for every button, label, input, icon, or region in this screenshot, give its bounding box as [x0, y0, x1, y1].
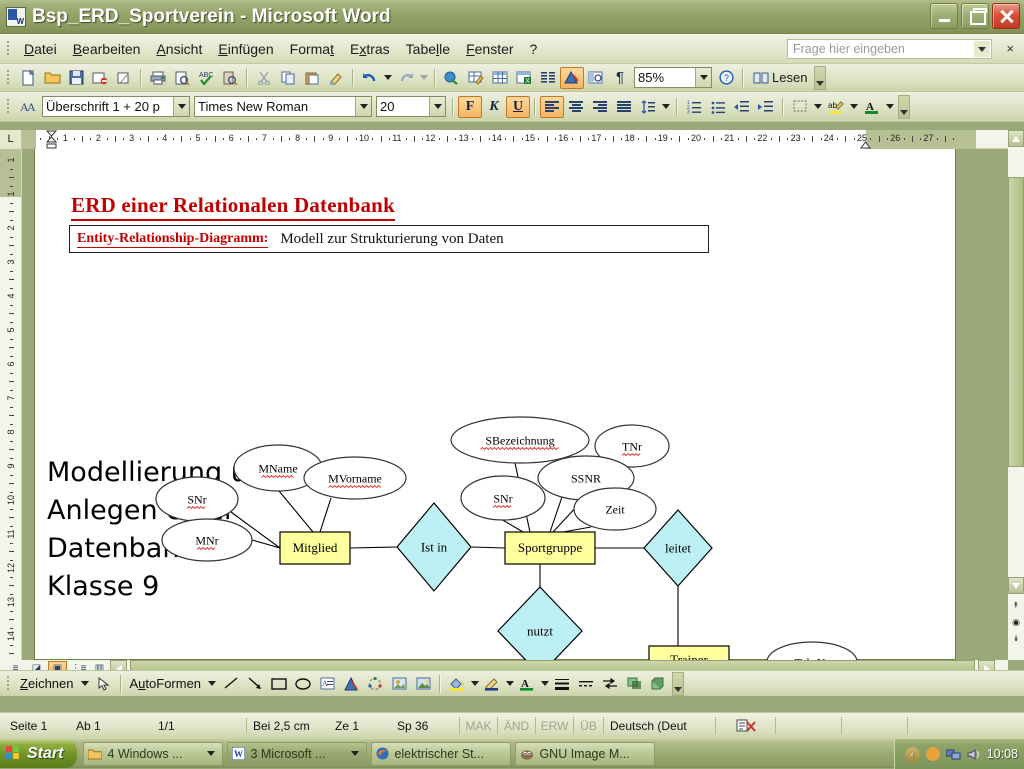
ruler-tick — [381, 136, 382, 142]
ruler-tick — [522, 138, 523, 140]
attribute-label: SNr — [493, 492, 512, 506]
diagram-shapes: SNrMNrMNameMVornameSBezeichnungTNrSSNRSN… — [156, 417, 857, 660]
taskbar-item-label: 3 Microsoft ... — [250, 747, 325, 761]
firefox-icon — [376, 747, 389, 760]
document-canvas[interactable]: ERD einer Relationalen Datenbank Entity-… — [22, 149, 975, 660]
ruler-tick — [904, 138, 905, 140]
taskbar-item-label: GNU Image M... — [539, 747, 629, 761]
new-document-icon[interactable] — [16, 67, 40, 89]
tab-stop-selector[interactable]: L — [0, 130, 22, 149]
ruler-label: 6 — [229, 133, 234, 143]
align-left-icon[interactable] — [540, 96, 564, 118]
scroll-up-button[interactable] — [1008, 130, 1024, 147]
ruler-tick — [9, 279, 14, 280]
text-box-icon[interactable]: A — [315, 673, 339, 695]
ruler-tick — [953, 138, 954, 140]
toolbar-separator — [676, 98, 678, 116]
clip-art-icon[interactable] — [387, 673, 411, 695]
menu-datei[interactable]: Datei — [16, 38, 65, 60]
attribute-tel-nr[interactable]: Tel.-Nr — [767, 642, 857, 660]
diagram-edge — [501, 519, 523, 532]
close-button[interactable] — [992, 3, 1020, 29]
font-size-combobox[interactable]: 20 — [376, 96, 446, 117]
zoom-combobox[interactable]: 85% — [634, 67, 712, 88]
ruler-tick — [10, 407, 13, 408]
ruler-label: 10 — [359, 133, 369, 143]
line-spacing-icon[interactable] — [636, 96, 660, 118]
restore-button[interactable] — [961, 3, 989, 29]
menu-tabelle[interactable]: Tabelle — [398, 38, 458, 60]
ruler-tick — [10, 237, 13, 238]
ruler-tick — [480, 136, 481, 142]
wordart-icon[interactable] — [339, 673, 363, 695]
attribute-snr-mitglied[interactable]: SNr — [156, 477, 238, 521]
format-painter-icon[interactable] — [324, 67, 348, 89]
ruler-tick — [920, 138, 921, 140]
status-line: Ze 1 — [331, 719, 393, 733]
vertical-scrollbar[interactable]: ⯭ ◉ ⯯ — [1008, 130, 1024, 660]
ruler-tick — [10, 169, 13, 170]
attribute-label: SSNR — [571, 472, 601, 486]
ruler-tick — [489, 138, 490, 140]
svg-text:X: X — [525, 78, 530, 85]
ruler-tick — [572, 138, 573, 140]
oval-icon[interactable] — [291, 673, 315, 695]
status-spare-1 — [775, 717, 841, 734]
ruler-tick — [206, 138, 207, 140]
attribute-zeit[interactable]: Zeit — [574, 488, 656, 530]
diagram-edge — [320, 498, 331, 532]
insert-table-icon[interactable] — [488, 67, 512, 89]
relationship-label: leitet — [665, 541, 691, 556]
indent-marker[interactable] — [46, 130, 57, 149]
status-spare-3 — [907, 717, 973, 734]
ruler-label: 24 — [824, 133, 834, 143]
ruler-tick — [240, 138, 241, 140]
ruler-tick — [9, 415, 14, 416]
ruler-tick — [256, 138, 257, 140]
insert-hyperlink-icon[interactable] — [440, 67, 464, 89]
line-icon[interactable] — [219, 673, 243, 695]
toolbar-separator — [452, 98, 454, 116]
ruler-label: 4 — [162, 133, 167, 143]
chevron-down-icon[interactable] — [429, 97, 445, 116]
toolbar-options-button[interactable] — [672, 672, 684, 696]
chevron-down-icon[interactable] — [974, 41, 990, 57]
ruler-tick — [472, 138, 473, 140]
underline-button[interactable]: U — [506, 96, 530, 118]
tables-and-borders-icon[interactable] — [464, 67, 488, 89]
arrow-style-icon[interactable] — [598, 673, 622, 695]
ruler-label: 18 — [625, 133, 635, 143]
ruler-tick — [10, 645, 13, 646]
relationship-ist-in[interactable]: Ist in — [397, 503, 471, 591]
menu-fenster[interactable]: Fenster — [458, 38, 521, 60]
ruler-tick — [588, 138, 589, 140]
status-ovr[interactable]: ÜB — [573, 717, 603, 734]
open-folder-icon[interactable] — [40, 67, 64, 89]
toolbar-separator — [246, 69, 248, 87]
menu-einfuegen[interactable]: Einfügen — [210, 38, 281, 60]
align-center-icon[interactable] — [564, 96, 588, 118]
clock[interactable]: 10:08 — [987, 747, 1018, 761]
status-page: Seite 1 — [0, 719, 72, 733]
ruler-tick — [90, 138, 91, 140]
ask-placeholder: Frage hier eingeben — [788, 42, 905, 56]
ruler-tick — [372, 138, 373, 140]
drawing-toolbar: Zeichnen AutoFormen A A — [0, 670, 1024, 696]
entity-trainer[interactable]: Trainer — [649, 646, 729, 660]
ruler-tick — [837, 138, 838, 140]
ruler-tick — [9, 347, 14, 348]
attribute-sbezeichnung[interactable]: SBezeichnung — [451, 417, 589, 463]
ruler-label: 14 — [492, 133, 502, 143]
ruler-tick — [82, 136, 83, 142]
menu-bearbeiten[interactable]: Bearbeiten — [65, 38, 149, 60]
word-icon: W — [232, 747, 245, 760]
ruler-tick — [821, 138, 822, 140]
font-color-dropdown-icon[interactable] — [884, 96, 896, 118]
picture-icon[interactable] — [411, 673, 435, 695]
ruler-tick — [879, 136, 880, 142]
ruler-label: 22 — [757, 133, 767, 143]
reading-layout-label: Lesen — [772, 70, 807, 85]
ruler-label: 26 — [890, 133, 900, 143]
ruler-tick — [406, 138, 407, 140]
ruler-tick — [389, 138, 390, 140]
status-section: Ab 1 — [72, 719, 154, 733]
ruler-tick — [9, 313, 14, 314]
document-map-icon[interactable] — [584, 67, 608, 89]
highlight-icon[interactable]: ab — [824, 96, 848, 118]
ruler-label: 1 — [63, 133, 68, 143]
print-icon[interactable] — [146, 67, 170, 89]
svg-text:ABC: ABC — [199, 72, 213, 79]
toolbar-separator — [534, 98, 536, 116]
status-language[interactable]: Deutsch (Deut — [603, 717, 715, 734]
menu-gripper[interactable] — [4, 39, 13, 59]
ruler-tick — [190, 138, 191, 140]
ruler-tick — [771, 138, 772, 140]
taskbar-item-word-group[interactable]: W 3 Microsoft ... — [227, 742, 367, 766]
attribute-label: SBezeichnung — [485, 434, 554, 448]
permission-icon[interactable] — [112, 67, 136, 89]
relationship-label: Ist in — [421, 540, 448, 555]
copy-icon[interactable] — [276, 67, 300, 89]
ruler-label: 3 — [129, 133, 134, 143]
ruler-tick — [854, 138, 855, 140]
reading-layout-button[interactable]: Lesen — [748, 70, 812, 85]
document-page[interactable]: ERD einer Relationalen Datenbank Entity-… — [34, 149, 956, 660]
ruler-label: 16 — [558, 133, 568, 143]
style-combobox[interactable]: Überschrift 1 + 20 p — [42, 96, 190, 117]
toolbar-separator — [742, 69, 744, 87]
italic-label: K — [489, 99, 498, 115]
ruler-label: 19 — [658, 133, 668, 143]
undo-dropdown-icon[interactable] — [382, 67, 394, 89]
svg-text:W: W — [234, 749, 243, 759]
ruler-tick — [107, 138, 108, 140]
font-combobox[interactable]: Times New Roman — [194, 96, 372, 117]
diagram-edge — [550, 497, 562, 532]
ruler-label: 12 — [425, 133, 435, 143]
ruler-tick — [513, 136, 514, 142]
diagram-edge — [471, 547, 505, 548]
diagram-edge — [350, 547, 397, 548]
ruler-label: 7 — [262, 133, 267, 143]
attribute-label: Zeit — [605, 503, 625, 517]
font-size-value: 20 — [377, 99, 394, 114]
standard-toolbar: ABC — [0, 64, 1024, 92]
save-disk-icon[interactable] — [64, 67, 88, 89]
ruler-tick — [123, 138, 124, 140]
window-controls — [930, 3, 1020, 29]
chevron-down-icon[interactable] — [351, 751, 359, 756]
right-indent-marker[interactable] — [860, 138, 871, 149]
chevron-down-icon[interactable] — [695, 68, 711, 87]
status-at: Bei 2,5 cm — [249, 719, 331, 733]
ruler-tick — [10, 339, 13, 340]
ruler-tick — [181, 136, 182, 142]
horizontal-ruler[interactable]: L 12345678910111213141516171819202122232… — [0, 130, 1008, 149]
ruler-tick — [613, 136, 614, 142]
ruler-label: 20 — [691, 133, 701, 143]
cut-scissors-icon[interactable] — [252, 67, 276, 89]
justify-icon[interactable] — [612, 96, 636, 118]
select-arrow-icon[interactable] — [92, 673, 116, 695]
undo-icon[interactable] — [358, 67, 382, 89]
ruler-tick — [9, 619, 14, 620]
status-pages: 1/1 — [154, 719, 244, 733]
toolbar-gripper[interactable] — [4, 68, 13, 88]
ruler-tick — [671, 138, 672, 140]
ruler-tick — [9, 551, 14, 552]
ruler-tick — [746, 136, 747, 142]
er-diagram[interactable]: SNrMNrMNameMVornameSBezeichnungTNrSSNRSN… — [35, 149, 957, 660]
attribute-mnr[interactable]: MNr — [162, 519, 252, 561]
ruler-tick — [538, 138, 539, 140]
ruler-tick — [215, 136, 216, 142]
previous-page-button[interactable]: ⯭ — [1008, 600, 1024, 611]
ruler-label: 17 — [591, 133, 601, 143]
ruler-tick — [347, 136, 348, 142]
entity-mitglied[interactable]: Mitglied — [280, 532, 350, 564]
borders-icon[interactable] — [788, 96, 812, 118]
svg-text:?: ? — [723, 73, 728, 83]
align-right-icon[interactable] — [588, 96, 612, 118]
arrow-icon[interactable] — [243, 673, 267, 695]
draw-menu-button[interactable]: Zeichnen — [16, 676, 78, 691]
ruler-tick — [314, 136, 315, 142]
toolbar-options-button[interactable] — [898, 95, 910, 119]
vertical-ruler[interactable]: 11234567891011121314 — [0, 149, 22, 660]
autoshapes-menu-button[interactable]: AutoFormen — [126, 676, 206, 691]
diagram-icon[interactable] — [363, 673, 387, 695]
attribute-snr-sportgruppe[interactable]: SNr — [461, 476, 545, 520]
entity-label: Mitglied — [293, 540, 338, 555]
taskbar-item-gimp[interactable]: GNU Image M... — [515, 742, 655, 766]
ruler-tick — [845, 136, 846, 142]
ruler-label: 27 — [923, 133, 933, 143]
decrease-indent-icon[interactable] — [730, 96, 754, 118]
insert-excel-sheet-icon[interactable]: X — [512, 67, 536, 89]
line-color-icon[interactable] — [480, 673, 504, 695]
font-color-dropdown-icon[interactable] — [539, 673, 550, 695]
fill-color-icon[interactable] — [445, 673, 469, 695]
borders-dropdown-icon[interactable] — [812, 96, 824, 118]
ruler-label: 23 — [791, 133, 801, 143]
ask-a-question-box[interactable]: Frage hier eingeben — [787, 39, 992, 59]
ruler-tick — [605, 138, 606, 140]
chevron-down-icon[interactable] — [207, 751, 215, 756]
toolbar-options-button[interactable] — [814, 66, 826, 90]
columns-icon[interactable] — [536, 67, 560, 89]
entity-sportgruppe[interactable]: Sportgruppe — [505, 532, 595, 564]
toolbar-gripper[interactable] — [4, 97, 13, 117]
highlight-dropdown-icon[interactable] — [848, 96, 860, 118]
ruler-label: 11 — [392, 133, 401, 143]
relationship-leitet[interactable]: leitet — [644, 510, 712, 586]
shadow-style-icon[interactable] — [622, 673, 646, 695]
help-icon[interactable]: ? — [714, 67, 738, 89]
minimize-button[interactable] — [930, 3, 958, 29]
gimp-icon — [520, 748, 534, 760]
ruler-tick — [173, 138, 174, 140]
toolbar-gripper[interactable] — [4, 674, 13, 694]
ruler-tick — [555, 138, 556, 140]
taskbar-item-firefox[interactable]: elektrischer St... — [371, 742, 511, 766]
menu-ansicht[interactable]: Ansicht — [148, 38, 210, 60]
start-label: Start — [27, 745, 63, 763]
bold-button[interactable]: F — [458, 96, 482, 118]
research-icon[interactable] — [218, 67, 242, 89]
spellcheck-status-icon[interactable] — [715, 717, 775, 734]
font-color-icon[interactable]: A — [860, 96, 884, 118]
bulleted-list-icon[interactable] — [706, 96, 730, 118]
ruler-tick — [339, 138, 340, 140]
svg-text:A: A — [27, 100, 36, 114]
status-spare-2 — [841, 717, 907, 734]
status-column: Sp 36 — [393, 719, 459, 733]
line-spacing-dropdown-icon[interactable] — [660, 96, 672, 118]
ruler-tick — [721, 138, 722, 140]
scroll-down-button[interactable] — [1008, 577, 1024, 594]
menu-help[interactable]: ? — [522, 38, 546, 60]
ruler-label: 21 — [724, 133, 734, 143]
status-ext[interactable]: ERW — [535, 717, 573, 734]
start-button[interactable]: Start — [0, 740, 77, 768]
chevron-down-icon[interactable] — [355, 97, 371, 116]
fill-color-dropdown-icon[interactable] — [469, 673, 480, 695]
redo-dropdown-icon[interactable] — [418, 67, 430, 89]
mail-recipient-icon[interactable] — [88, 67, 112, 89]
ruler-tick — [10, 203, 13, 204]
ruler-tick — [937, 138, 938, 140]
word-application-window: Bsp_ERD_Sportverein - Microsoft Word Dat… — [0, 0, 1024, 768]
rectangle-icon[interactable] — [267, 673, 291, 695]
relationship-label: nutzt — [527, 624, 553, 639]
ruler-tick — [9, 211, 14, 212]
line-style-icon[interactable] — [550, 673, 574, 695]
font-color-icon[interactable]: A — [515, 673, 539, 695]
volume-icon[interactable] — [967, 748, 981, 761]
tea-timer-icon[interactable] — [926, 747, 940, 761]
styles-and-formatting-icon[interactable]: AA — [16, 96, 40, 118]
ruler-tick — [638, 138, 639, 140]
underline-label: U — [513, 99, 523, 115]
increase-indent-icon[interactable] — [754, 96, 778, 118]
ruler-tick — [812, 136, 813, 142]
taskbar-item-label: 4 Windows ... — [107, 747, 182, 761]
spellcheck-icon[interactable]: ABC — [194, 67, 218, 89]
select-browse-object-button[interactable]: ◉ — [1008, 617, 1024, 628]
ruler-tick — [10, 543, 13, 544]
line-color-dropdown-icon[interactable] — [504, 673, 515, 695]
chevron-down-icon[interactable] — [81, 681, 89, 686]
taskbar-item-label: elektrischer St... — [394, 747, 484, 761]
show-hidden-icons-button[interactable]: ‹ — [905, 747, 920, 762]
ruler-tick — [9, 585, 14, 586]
relationship-nutzt[interactable]: nutzt — [498, 587, 582, 660]
paste-icon[interactable] — [300, 67, 324, 89]
ruler-label: 2 — [96, 133, 101, 143]
ruler-tick — [547, 136, 548, 142]
ruler-tick — [248, 136, 249, 142]
redo-icon[interactable] — [394, 67, 418, 89]
italic-button[interactable]: K — [482, 96, 506, 118]
chevron-down-icon[interactable] — [208, 681, 216, 686]
3d-style-icon[interactable] — [646, 673, 670, 695]
show-formatting-marks-icon[interactable]: ¶ — [608, 67, 632, 89]
close-icon[interactable]: × — [1006, 41, 1014, 56]
formatting-toolbar: AA Überschrift 1 + 20 p Times New Roman … — [0, 92, 1024, 122]
numbered-list-icon[interactable]: 123 — [682, 96, 706, 118]
ruler-tick — [754, 138, 755, 140]
menu-format[interactable]: Format — [282, 38, 342, 60]
ruler-label: 8 — [295, 133, 300, 143]
chevron-down-icon[interactable] — [173, 97, 189, 116]
network-icon[interactable] — [946, 748, 961, 761]
status-bar: Seite 1 Ab 1 1/1 Bei 2,5 cm Ze 1 Sp 36 M… — [0, 712, 1024, 738]
ruler-tick — [306, 138, 307, 140]
ruler-tick — [323, 138, 324, 140]
ruler-tick — [713, 136, 714, 142]
bold-label: F — [466, 99, 475, 115]
next-page-button[interactable]: ⯯ — [1008, 633, 1024, 644]
toolbar-separator — [352, 69, 354, 87]
status-trk[interactable]: ÄND — [497, 717, 535, 734]
drawing-toolbar-toggle-icon[interactable] — [560, 67, 584, 89]
dash-style-icon[interactable] — [574, 673, 598, 695]
print-preview-icon[interactable] — [170, 67, 194, 89]
ruler-tick — [679, 136, 680, 142]
toolbar-separator — [140, 69, 142, 87]
diagram-edge — [252, 540, 280, 548]
ruler-tick — [9, 245, 14, 246]
ruler-tick — [10, 373, 13, 374]
attribute-mvorname[interactable]: MVorname — [304, 457, 406, 499]
word-document-icon — [6, 7, 26, 27]
menu-bar: Datei Bearbeiten Ansicht Einfügen Format… — [0, 34, 1024, 64]
system-tray: ‹ 10:08 — [894, 739, 1024, 769]
status-rec[interactable]: MAK — [459, 717, 497, 734]
ruler-tick — [646, 136, 647, 142]
menu-extras[interactable]: Extras — [342, 38, 398, 60]
ruler-tick — [439, 138, 440, 140]
svg-text:3: 3 — [687, 109, 690, 114]
vertical-scroll-thumb[interactable] — [1008, 177, 1024, 467]
taskbar-item-windows-group[interactable]: 4 Windows ... — [83, 742, 223, 766]
